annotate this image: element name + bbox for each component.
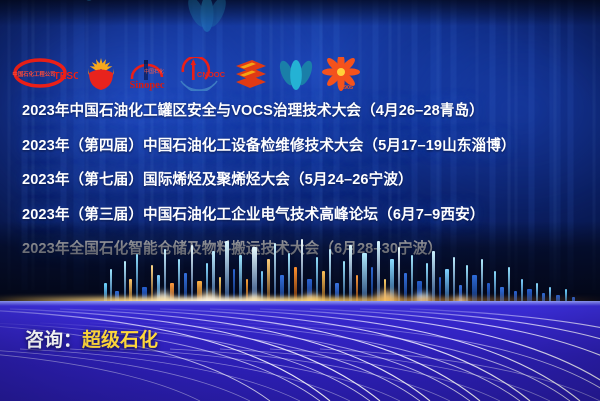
contact-line: 咨询：超级石化 [25, 325, 158, 352]
conference-line: 2023年（第七届）国际烯烃及聚烯烃大会（5月24–26宁波） [22, 173, 588, 188]
svg-text:TESC: TESC [54, 71, 78, 82]
ghost-sinopec-logo: Sinopec [6, 0, 68, 15]
svg-text:Sinopec: Sinopec [129, 80, 164, 91]
petrochina-logo [85, 57, 117, 91]
city-skyline [0, 221, 600, 309]
pinwheel-orange-logo: 1905 [322, 57, 360, 91]
cnooc-tesc-logo: 中国石化工程公司 TESC [12, 57, 78, 91]
ghost-logo-band: Sinopec [0, 0, 600, 42]
ghost-lotus-logo [60, 0, 118, 15]
sinopec-logo: 中国石化 Sinopec [124, 57, 170, 91]
ghost-lotus-logo-right [212, 0, 266, 13]
svg-text:CNOOC: CNOOC [197, 70, 225, 79]
contact-name: 超级石化 [82, 330, 158, 351]
sponsor-logo-row: 中国石化工程公司 TESC [12, 56, 360, 92]
ccb-diamond-logo [232, 57, 270, 91]
svg-text:中国石化工程公司: 中国石化工程公司 [12, 70, 55, 78]
conference-line: 2023年（第四届）中国石油化工设备检维修技术大会（5月17–19山东淄博） [22, 139, 588, 154]
contact-label: 咨询： [25, 330, 82, 351]
svg-text:中国石化: 中国石化 [144, 68, 164, 75]
cnooc-logo: CNOOC [177, 57, 225, 91]
svg-text:1905: 1905 [341, 85, 353, 91]
conference-poster: Sinopec [0, 0, 600, 401]
conference-line: 2023年中国石油化工罐区安全与VOCS治理技术大会（4月26–28青岛） [22, 104, 588, 119]
lotus-blue-logo [277, 57, 315, 91]
